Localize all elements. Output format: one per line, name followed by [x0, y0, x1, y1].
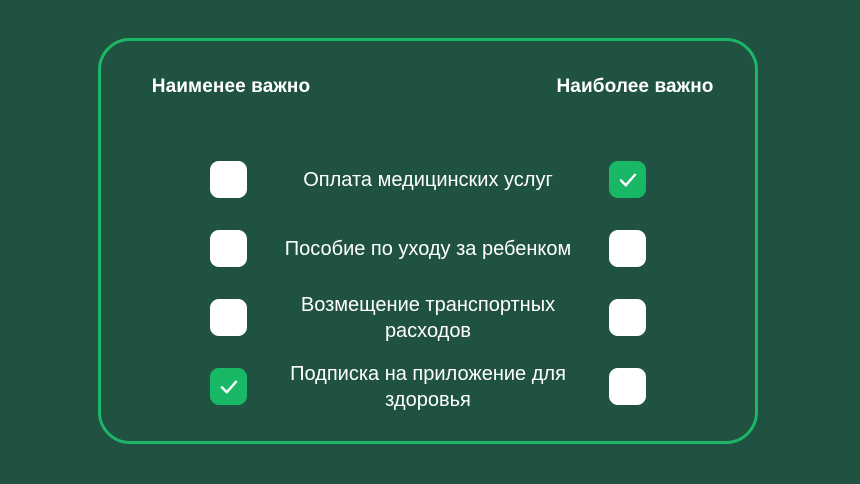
checkbox-most-important[interactable] — [609, 299, 646, 336]
row-label: Оплата медицинских услуг — [247, 167, 609, 193]
column-header-most-important: Наиболее важно — [540, 73, 730, 100]
ranking-row: Подписка на приложение для здоровья — [101, 352, 755, 421]
checkmark-icon — [617, 169, 638, 190]
ranking-panel: Наименее важно Наиболее важно Оплата мед… — [98, 38, 758, 444]
column-headers: Наименее важно Наиболее важно — [101, 73, 755, 143]
survey-screen: Наименее важно Наиболее важно Оплата мед… — [0, 0, 860, 484]
row-label: Пособие по уходу за ребенком — [247, 236, 609, 262]
checkbox-least-important[interactable] — [210, 161, 247, 198]
row-label: Подписка на приложение для здоровья — [247, 361, 609, 413]
row-label: Возмещение транспортных расходов — [247, 292, 609, 344]
checkbox-least-important[interactable] — [210, 230, 247, 267]
checkmark-icon — [218, 376, 239, 397]
checkbox-least-important[interactable] — [210, 368, 247, 405]
ranking-rows: Оплата медицинских услугПособие по уходу… — [101, 145, 755, 421]
checkbox-most-important[interactable] — [609, 161, 646, 198]
ranking-row: Оплата медицинских услуг — [101, 145, 755, 214]
checkbox-least-important[interactable] — [210, 299, 247, 336]
ranking-row: Возмещение транспортных расходов — [101, 283, 755, 352]
checkbox-most-important[interactable] — [609, 368, 646, 405]
checkbox-most-important[interactable] — [609, 230, 646, 267]
column-header-least-important: Наименее важно — [136, 73, 326, 100]
ranking-row: Пособие по уходу за ребенком — [101, 214, 755, 283]
